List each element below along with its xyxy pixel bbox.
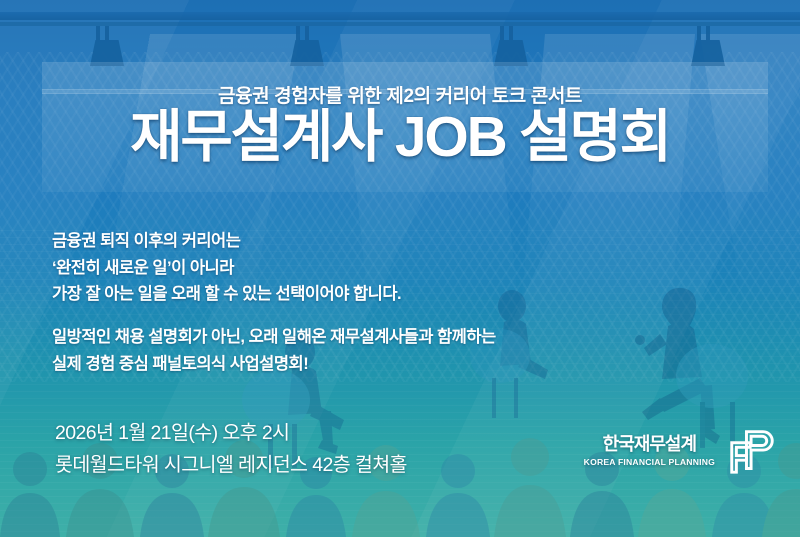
stage-truss xyxy=(0,12,800,20)
event-poster: 금융권 경험자를 위한 제2의 커리어 토크 콘서트 재무설계사 JOB 설명회… xyxy=(0,0,800,537)
body-line-4: 일방적인 채용 설명회가 아닌, 오래 일해온 재무설계사들과 함께하는 xyxy=(52,324,496,351)
stage-light-icon xyxy=(296,26,314,45)
stage-light-icon xyxy=(697,26,715,45)
poster-subtitle: 금융권 경험자를 위한 제2의 커리어 토크 콘서트 xyxy=(0,81,800,108)
brand-name-english: KOREA FINANCIAL PLANNING xyxy=(584,457,715,467)
body-line-3: 가장 잘 아는 일을 오래 할 수 있는 선택이어야 합니다. xyxy=(52,281,496,308)
fp-monogram-icon xyxy=(726,428,778,474)
event-venue: 롯데월드타워 시그니엘 레지던스 42층 컬쳐홀 xyxy=(55,450,407,482)
brand-logo: 한국재무설계 KOREA FINANCIAL PLANNING xyxy=(584,428,778,474)
stage-light-icon xyxy=(96,26,114,45)
poster-body-copy: 금융권 퇴직 이후의 커리어는 ‘완전히 새로운 일’이 아니라 가장 잘 아는… xyxy=(52,228,496,378)
stage-light-icon xyxy=(500,26,518,45)
body-line-1: 금융권 퇴직 이후의 커리어는 xyxy=(52,228,496,255)
brand-name-korean: 한국재무설계 xyxy=(584,435,715,455)
body-line-2: ‘완전히 새로운 일’이 아니라 xyxy=(52,255,496,282)
event-datetime: 2026년 1월 21일(수) 오후 2시 xyxy=(55,418,407,450)
event-details: 2026년 1월 21일(수) 오후 2시 롯데월드타워 시그니엘 레지던스 4… xyxy=(55,418,407,481)
poster-title: 재무설계사 JOB 설명회 xyxy=(0,106,800,170)
stage-truss-lower xyxy=(0,22,800,26)
body-line-5: 실제 경험 중심 패널토의식 사업설명회! xyxy=(52,351,496,378)
brand-logo-text: 한국재무설계 KOREA FINANCIAL PLANNING xyxy=(584,435,715,468)
